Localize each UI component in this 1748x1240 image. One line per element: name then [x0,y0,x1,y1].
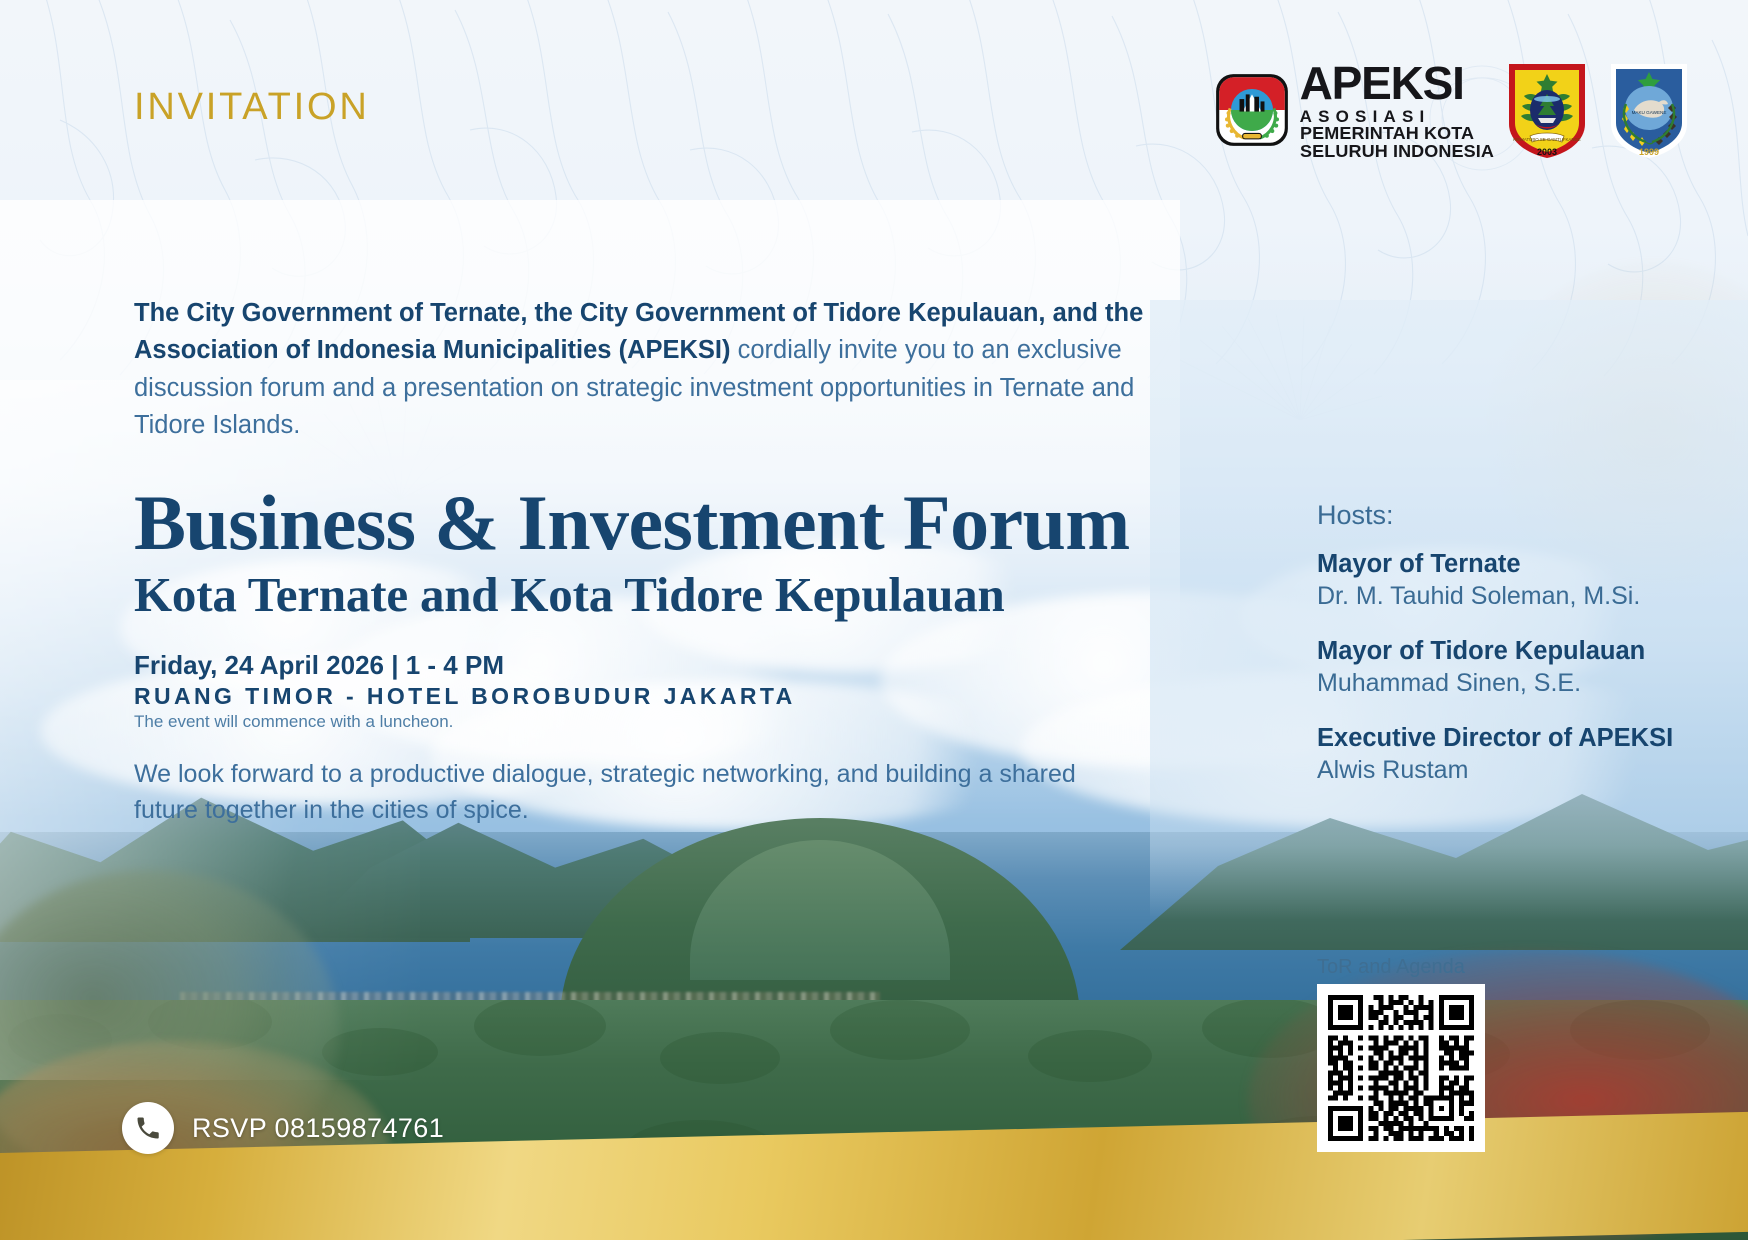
apeksi-wordmark: APEKSI ASOSIASI PEMERINTAH KOTA SELURUH … [1300,60,1488,160]
invitation-poster: INVITATION [0,0,1748,1240]
qr-label: ToR and Agenda [1317,956,1465,979]
event-title: Business & Investment Forum [134,484,1130,562]
event-venue: RUANG TIMOR - HOTEL BOROBUDUR JAKARTA [134,683,796,710]
tidore-kepulauan-coat-of-arms-icon: KIEMATUBO SE GAMTUFKANGE 2003 [1504,58,1590,162]
host-role-apeksi: Executive Director of APEKSI [1317,723,1717,753]
hosts-panel: Hosts: Mayor of Ternate Dr. M. Tauhid So… [1317,500,1717,785]
apeksi-tagline-3: SELURUH INDONESIA [1300,143,1494,161]
event-subtitle: Kota Ternate and Kota Tidore Kepulauan [134,570,1005,619]
event-date-time: Friday, 24 April 2026 | 1 - 4 PM [134,650,504,681]
ternate-coat-of-arms-icon: MAKU GAWENE 1999 [1606,58,1692,162]
hosts-label: Hosts: [1317,500,1717,531]
qr-code-image[interactable] [1328,995,1474,1141]
host-role-tidore: Mayor of Tidore Kepulauan [1317,636,1717,666]
ternate-motto: MAKU GAWENE [1632,110,1667,115]
apeksi-emblem-icon [1213,71,1291,149]
phone-icon-circle [122,1102,174,1154]
host-name-ternate: Dr. M. Tauhid Soleman, M.Si. [1317,581,1717,611]
qr-code[interactable] [1317,984,1485,1152]
invitation-label: INVITATION [134,86,370,129]
apeksi-logo: APEKSI ASOSIASI PEMERINTAH KOTA SELURUH … [1213,60,1488,160]
ternate-year: 1999 [1639,147,1659,157]
host-name-tidore: Muhammad Sinen, S.E. [1317,668,1717,698]
host-role-ternate: Mayor of Ternate [1317,549,1717,579]
host-name-apeksi: Alwis Rustam [1317,755,1717,785]
tidore-year: 2003 [1537,147,1557,157]
rsvp-text: RSVP 08159874761 [192,1113,444,1144]
phone-icon [134,1114,162,1142]
closing-paragraph: We look forward to a productive dialogue… [134,756,1144,829]
event-note: The event will commence with a luncheon. [134,712,453,732]
tidore-motto: KIEMATUBO SE GAMTUFKANGE [1513,137,1581,142]
logo-row: APEKSI ASOSIASI PEMERINTAH KOTA SELURUH … [1213,54,1692,166]
invitation-paragraph: The City Government of Ternate, the City… [134,295,1144,445]
rsvp-block[interactable]: RSVP 08159874761 [122,1102,444,1154]
apeksi-name: APEKSI [1300,60,1488,106]
